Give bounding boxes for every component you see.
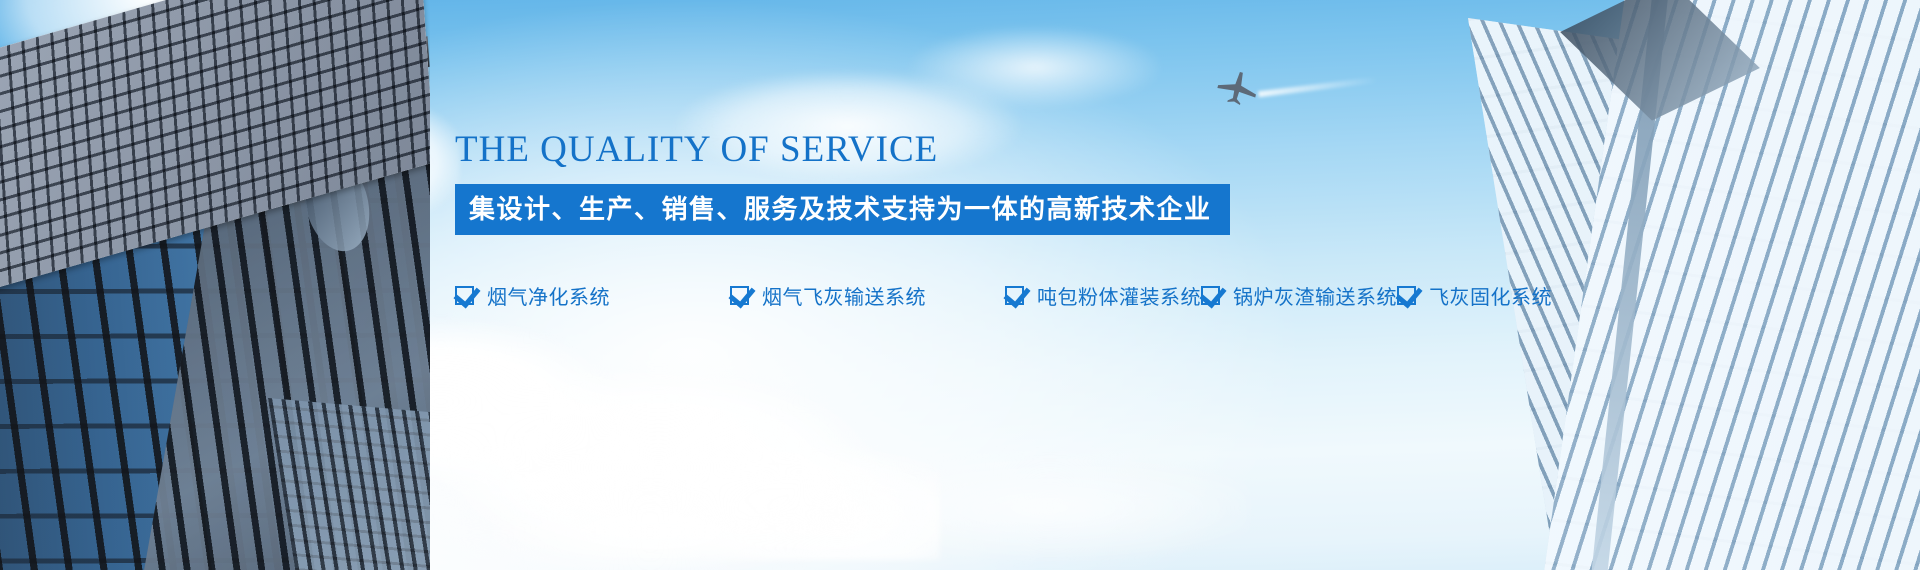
- list-item[interactable]: 吨包粉体灌装系统: [1005, 273, 1201, 317]
- banner-content: THE QUALITY OF SERVICE 集设计、生产、销售、服务及技术支持…: [455, 130, 1415, 317]
- checkbox-checked-icon: [455, 286, 474, 305]
- left-building-image: [0, 0, 430, 570]
- list-item[interactable]: 烟气净化系统: [455, 273, 730, 317]
- list-item[interactable]: 锅炉灰渣输送系统: [1201, 273, 1397, 317]
- list-item-label: 飞灰固化系统: [1429, 281, 1552, 310]
- feature-list: 烟气净化系统 烟气飞灰输送系统 吨包粉体灌装系统 锅炉灰渣输送系统 飞灰固化系统: [455, 273, 1415, 317]
- list-item-label: 烟气净化系统: [487, 281, 610, 310]
- checkbox-checked-icon: [1201, 286, 1220, 305]
- slogan-bar: 集设计、生产、销售、服务及技术支持为一体的高新技术企业: [455, 184, 1230, 236]
- list-item-label: 吨包粉体灌装系统: [1037, 281, 1201, 310]
- checkbox-checked-icon: [730, 286, 749, 305]
- airplane-icon: [1215, 70, 1261, 106]
- checkbox-checked-icon: [1397, 286, 1416, 305]
- list-item-label: 锅炉灰渣输送系统: [1233, 281, 1397, 310]
- list-item-label: 烟气飞灰输送系统: [762, 281, 926, 310]
- headline-english: THE QUALITY OF SERVICE: [455, 130, 1415, 171]
- list-item[interactable]: 烟气飞灰输送系统: [730, 273, 1005, 317]
- secondary-building: [268, 398, 430, 570]
- checkbox-checked-icon: [1005, 286, 1024, 305]
- list-item[interactable]: 飞灰固化系统: [1397, 273, 1552, 317]
- hero-banner: THE QUALITY OF SERVICE 集设计、生产、销售、服务及技术支持…: [0, 0, 1920, 570]
